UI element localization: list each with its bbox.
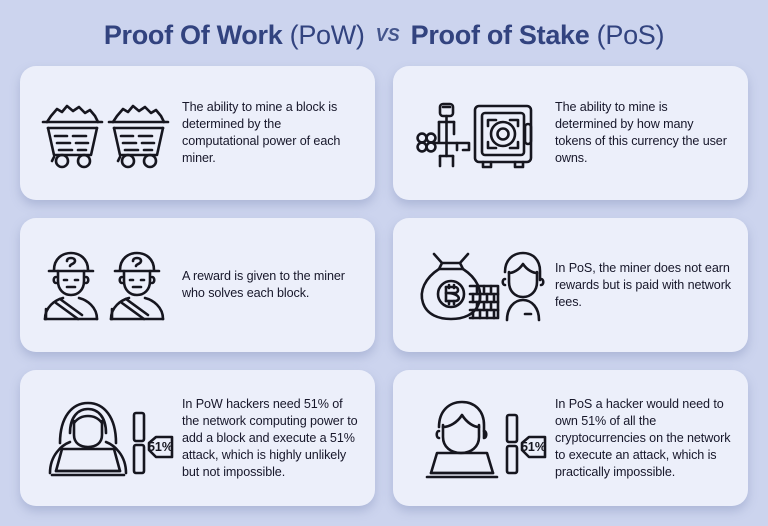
title-left-paren: (PoW) xyxy=(282,20,364,50)
page-title: Proof Of Work (PoW) VS Proof of Stake (P… xyxy=(0,0,768,66)
mining-carts-icon xyxy=(30,66,182,200)
svg-text:51%: 51% xyxy=(521,440,546,454)
card-text: The ability to mine is determined by how… xyxy=(555,99,734,167)
hooded-hacker-laptop-51-icon: 51% xyxy=(30,370,182,506)
card-text: In PoS, the miner does not earn rewards … xyxy=(555,260,734,311)
title-left: Proof Of Work (PoW) xyxy=(104,20,365,51)
person-with-key-and-safe-icon xyxy=(403,66,555,200)
card-text: A reward is given to the miner who solve… xyxy=(182,268,361,302)
title-right-paren: (PoS) xyxy=(589,20,664,50)
card-pos-network-fees: In PoS, the miner does not earn rewards … xyxy=(393,218,748,352)
card-text: The ability to mine a block is determine… xyxy=(182,99,361,167)
title-vs: VS xyxy=(374,25,402,46)
person-laptop-51-icon: 51% xyxy=(403,370,555,506)
title-right: Proof of Stake (PoS) xyxy=(411,20,665,51)
card-pow-51-attack: 51% In PoW hackers need 51% of the netwo… xyxy=(20,370,375,506)
card-pow-block-reward: A reward is given to the miner who solve… xyxy=(20,218,375,352)
money-bag-bitcoin-person-icon xyxy=(403,218,555,352)
card-text: In PoS a hacker would need to own 51% of… xyxy=(555,396,734,481)
card-pow-mining-power: The ability to mine a block is determine… xyxy=(20,66,375,200)
card-pos-51-attack: 51% In PoS a hacker would need to own 51… xyxy=(393,370,748,506)
title-right-bold: Proof of Stake xyxy=(411,20,590,50)
comparison-grid: The ability to mine a block is determine… xyxy=(0,66,768,506)
two-miners-icon xyxy=(30,218,182,352)
card-text: In PoW hackers need 51% of the network c… xyxy=(182,396,361,481)
title-left-bold: Proof Of Work xyxy=(104,20,283,50)
svg-text:51%: 51% xyxy=(148,440,173,454)
card-pos-token-ownership: The ability to mine is determined by how… xyxy=(393,66,748,200)
